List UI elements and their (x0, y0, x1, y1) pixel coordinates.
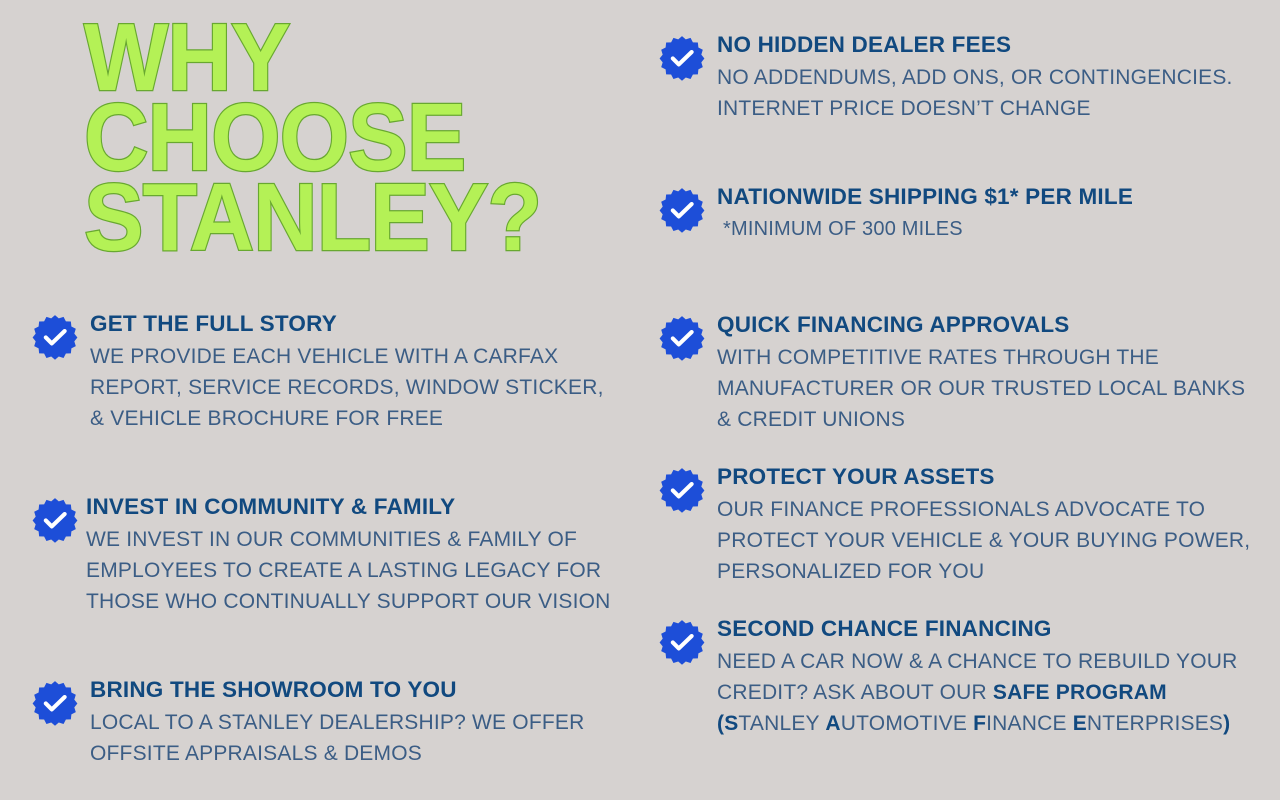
feature-title: GET THE FULL STORY (90, 309, 622, 339)
feature-text: PROTECT YOUR ASSETS OUR FINANCE PROFESSI… (717, 462, 1259, 587)
verified-check-icon (659, 187, 705, 233)
feature-protect-your-assets: PROTECT YOUR ASSETS OUR FINANCE PROFESSI… (659, 465, 1259, 587)
feature-title: PROTECT YOUR ASSETS (717, 462, 1259, 492)
feature-body: OUR FINANCE PROFESSIONALS ADVOCATE TO PR… (717, 494, 1259, 587)
feature-text: NO HIDDEN DEALER FEES NO ADDENDUMS, ADD … (717, 30, 1259, 124)
body-text-segment: NTERPRISES (1087, 712, 1223, 735)
verified-check-icon (659, 315, 705, 361)
feature-no-hidden-dealer-fees: NO HIDDEN DEALER FEES NO ADDENDUMS, ADD … (659, 33, 1259, 124)
feature-quick-financing-approvals: QUICK FINANCING APPROVALS WITH COMPETITI… (659, 313, 1259, 435)
body-text-segment: UTOMOTIVE (841, 712, 973, 735)
feature-title: INVEST IN COMMUNITY & FAMILY (86, 492, 622, 522)
feature-body: WITH COMPETITIVE RATES THROUGH THE MANUF… (717, 342, 1259, 435)
feature-body: NO ADDENDUMS, ADD ONS, OR CONTINGENCIES.… (717, 62, 1259, 124)
body-bold-segment: F (973, 712, 986, 735)
feature-title: NATIONWIDE SHIPPING $1* PER MILE (717, 182, 1259, 212)
body-text-segment: INANCE (986, 712, 1073, 735)
feature-title: QUICK FINANCING APPROVALS (717, 310, 1259, 340)
feature-invest-in-community-family: INVEST IN COMMUNITY & FAMILY WE INVEST I… (32, 495, 622, 617)
feature-get-the-full-story: GET THE FULL STORY WE PROVIDE EACH VEHIC… (32, 312, 622, 434)
feature-text: SECOND CHANCE FINANCING NEED A CAR NOW &… (717, 614, 1259, 739)
verified-check-icon (32, 680, 78, 726)
feature-text: GET THE FULL STORY WE PROVIDE EACH VEHIC… (90, 309, 622, 434)
feature-title: SECOND CHANCE FINANCING (717, 614, 1259, 644)
feature-body: LOCAL TO A STANLEY DEALERSHIP? WE OFFER … (90, 707, 622, 769)
body-bold-segment: A (825, 712, 840, 735)
verified-check-icon (659, 619, 705, 665)
verified-check-icon (659, 467, 705, 513)
feature-bring-the-showroom-to-you: BRING THE SHOWROOM TO YOU LOCAL TO A STA… (32, 678, 622, 769)
verified-check-icon (32, 314, 78, 360)
feature-body: WE INVEST IN OUR COMMUNITIES & FAMILY OF… (86, 524, 622, 617)
feature-second-chance-financing: SECOND CHANCE FINANCING NEED A CAR NOW &… (659, 617, 1259, 739)
feature-text: BRING THE SHOWROOM TO YOU LOCAL TO A STA… (90, 675, 622, 769)
feature-body: NEED A CAR NOW & A CHANCE TO REBUILD YOU… (717, 646, 1259, 739)
feature-subnote: *MINIMUM OF 300 MILES (717, 214, 1259, 245)
page-title: WHY CHOOSE STANLEY? (84, 18, 604, 258)
feature-text: QUICK FINANCING APPROVALS WITH COMPETITI… (717, 310, 1259, 435)
feature-text: NATIONWIDE SHIPPING $1* PER MILE *MINIMU… (717, 182, 1259, 245)
feature-nationwide-shipping: NATIONWIDE SHIPPING $1* PER MILE *MINIMU… (659, 185, 1259, 245)
body-bold-segment: ) (1223, 712, 1230, 735)
feature-text: INVEST IN COMMUNITY & FAMILY WE INVEST I… (86, 492, 622, 617)
feature-title: NO HIDDEN DEALER FEES (717, 30, 1259, 60)
verified-check-icon (659, 35, 705, 81)
feature-title: BRING THE SHOWROOM TO YOU (90, 675, 622, 705)
feature-body: WE PROVIDE EACH VEHICLE WITH A CARFAX RE… (90, 341, 622, 434)
headline-line-3: STANLEY? (84, 178, 568, 258)
body-text-segment: TANLEY (738, 712, 825, 735)
verified-check-icon (32, 497, 78, 543)
body-bold-segment: E (1073, 712, 1087, 735)
why-choose-stanley-poster: WHY CHOOSE STANLEY? GET THE FULL STORY W… (0, 0, 1280, 800)
